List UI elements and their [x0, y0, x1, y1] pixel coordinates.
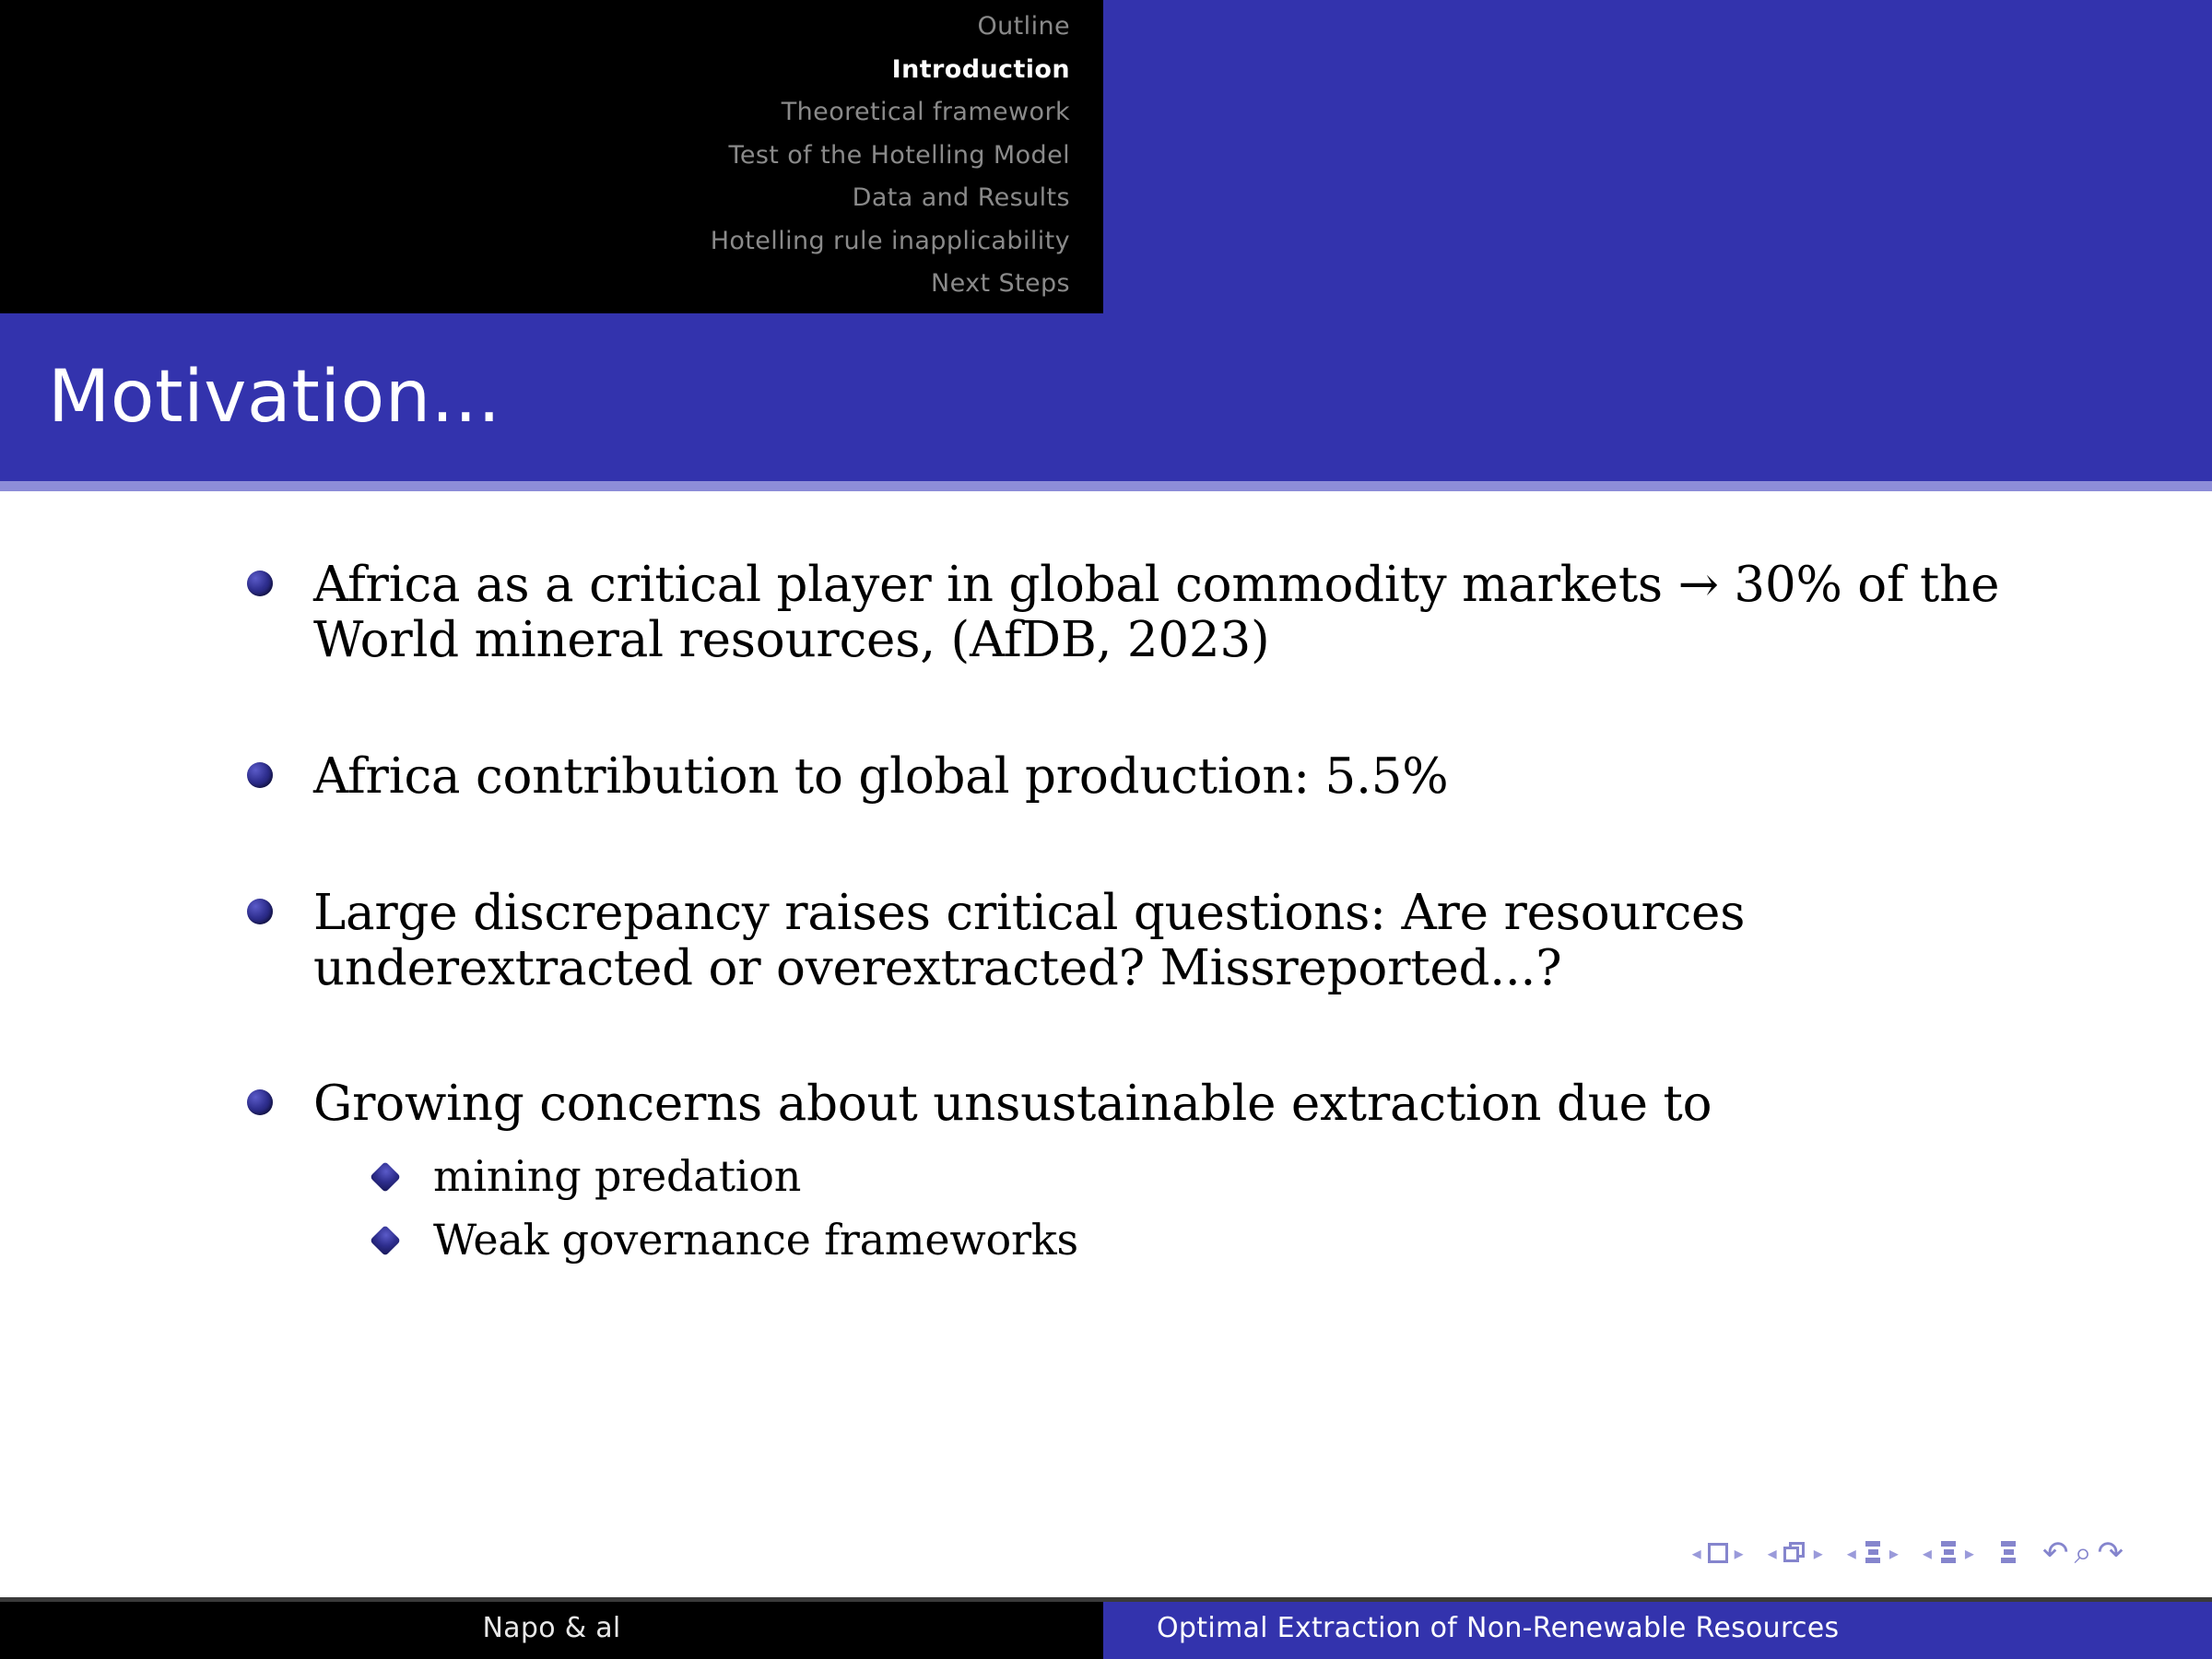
bullet-sphere-icon	[247, 571, 273, 596]
prev-section-triangle-icon[interactable]: ◂	[1923, 1544, 1932, 1562]
go-back-arrow-icon[interactable]: ↶	[2042, 1537, 2069, 1569]
subbullet-list: mining predation Weak governance framewo…	[313, 1152, 2000, 1265]
footer-top-rule	[0, 1597, 2212, 1602]
subbullet-diamond-icon	[370, 1225, 401, 1256]
slide-title-bar: Motivation...	[0, 313, 2212, 481]
prev-frame-triangle-icon[interactable]: ◂	[1768, 1544, 1777, 1562]
prev-slide-triangle-icon[interactable]: ◂	[1692, 1544, 1701, 1562]
nav-item-next-steps[interactable]: Next Steps	[931, 263, 1070, 306]
next-frame-triangle-icon[interactable]: ▸	[1814, 1544, 1823, 1562]
nav-item-data-and-results[interactable]: Data and Results	[853, 177, 1070, 220]
slide-footer: Napo & al Optimal Extraction of Non-Rene…	[0, 1597, 2212, 1659]
subbullet-item: mining predation	[313, 1152, 2000, 1201]
footer-presentation-title: Optimal Extraction of Non-Renewable Reso…	[1103, 1597, 2212, 1659]
slide-title: Motivation...	[0, 361, 501, 433]
nav-item-hotelling-rule-inapplicability[interactable]: Hotelling rule inapplicability	[711, 220, 1070, 264]
nav-item-theoretical-framework[interactable]: Theoretical framework	[782, 91, 1070, 135]
navigation-header: Outline Introduction Theoretical framewo…	[0, 0, 1103, 313]
next-subsection-triangle-icon[interactable]: ▸	[1889, 1544, 1899, 1562]
slide-square-icon[interactable]	[1708, 1543, 1728, 1563]
nav-item-introduction[interactable]: Introduction	[892, 49, 1070, 92]
beamer-navigation-symbols: ◂ ▸ ◂ ▸ ◂ ▸ ◂ ▸ ↶ ⌕ ↷	[1692, 1537, 2124, 1569]
frame-stack-icon[interactable]	[1783, 1542, 1807, 1564]
go-forward-arrow-icon[interactable]: ↷	[2098, 1537, 2124, 1569]
section-navigation-group[interactable]: ◂ ▸	[1923, 1541, 1974, 1565]
header-blue-fill	[1103, 0, 2212, 313]
slide-root: Outline Introduction Theoretical framewo…	[0, 0, 2212, 1659]
bullet-item: Africa contribution to global production…	[0, 749, 2212, 805]
bullet-list: Africa as a critical player in global co…	[0, 558, 2212, 1265]
bullet-sphere-icon	[247, 762, 273, 788]
subbullet-text: Weak governance frameworks	[433, 1215, 1078, 1265]
slide-content: Africa as a critical player in global co…	[0, 491, 2212, 1597]
history-navigation-group[interactable]: ↶ ⌕ ↷	[2042, 1537, 2124, 1569]
subbullet-text: mining predation	[433, 1151, 801, 1201]
bullet-text: Africa as a critical player in global co…	[313, 557, 1999, 668]
title-underline-rule	[0, 481, 2212, 491]
section-document-icon[interactable]	[1938, 1541, 1959, 1565]
frame-navigation-group[interactable]: ◂ ▸	[1768, 1542, 1823, 1564]
nav-item-test-of-the-hotelling-model[interactable]: Test of the Hotelling Model	[729, 135, 1070, 178]
bullet-sphere-icon	[247, 1089, 273, 1115]
bullet-text: Growing concerns about unsustainable ext…	[313, 1076, 1712, 1132]
bullet-text: Africa contribution to global production…	[313, 748, 1448, 805]
next-slide-triangle-icon[interactable]: ▸	[1735, 1544, 1744, 1562]
search-icon[interactable]: ⌕	[2074, 1537, 2091, 1569]
footer-author: Napo & al	[0, 1597, 1103, 1659]
slide-navigation-group[interactable]: ◂ ▸	[1692, 1543, 1744, 1563]
next-section-triangle-icon[interactable]: ▸	[1965, 1544, 1974, 1562]
subsection-navigation-group[interactable]: ◂ ▸	[1847, 1541, 1899, 1565]
bullet-item: Large discrepancy raises critical questi…	[0, 886, 2212, 996]
nav-item-outline[interactable]: Outline	[978, 6, 1070, 49]
subsection-document-icon[interactable]	[1863, 1541, 1883, 1565]
bullet-item: Growing concerns about unsustainable ext…	[0, 1077, 2212, 1265]
subbullet-item: Weak governance frameworks	[313, 1216, 2000, 1265]
document-icon[interactable]	[1998, 1541, 2018, 1565]
bullet-text: Large discrepancy raises critical questi…	[313, 885, 1745, 996]
bullet-sphere-icon	[247, 899, 273, 924]
bullet-item: Africa as a critical player in global co…	[0, 558, 2212, 668]
subbullet-diamond-icon	[370, 1161, 401, 1193]
prev-subsection-triangle-icon[interactable]: ◂	[1847, 1544, 1856, 1562]
